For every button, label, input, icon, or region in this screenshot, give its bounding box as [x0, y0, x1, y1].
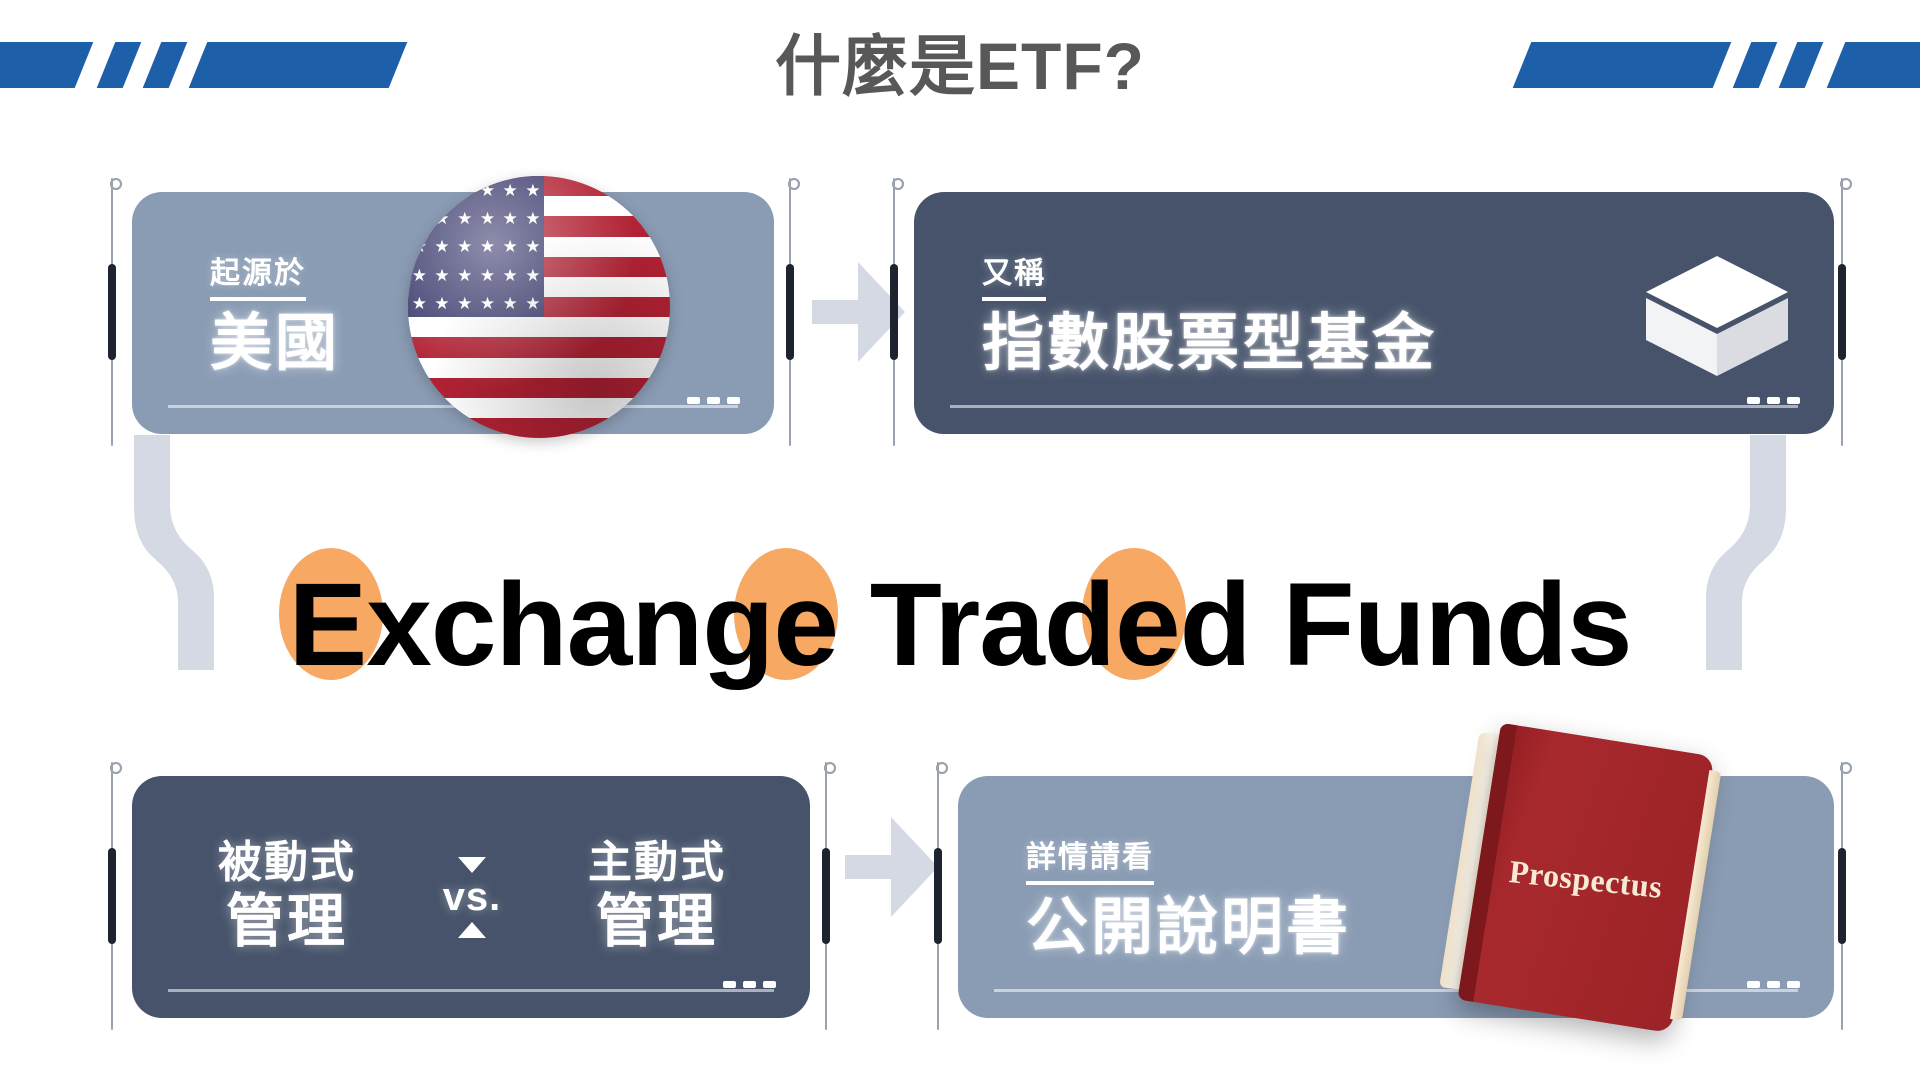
etf-wordmark: Exchange Traded Funds [0, 540, 1920, 710]
card-prospectus-text: 詳情請看 公開說明書 [1026, 832, 1351, 962]
etf-space-1 [838, 559, 870, 691]
active-label-bottom: 管理 [542, 889, 772, 956]
etf-cap-e: E [289, 559, 367, 691]
card-prospectus-kicker: 詳情請看 [1026, 832, 1154, 885]
passive-label-bottom: 管理 [172, 889, 402, 956]
etf-rest-e: xchange [366, 559, 838, 691]
active-management-block: 主動式 管理 [542, 838, 772, 955]
vs-indicator: vs. [422, 857, 522, 938]
triangle-up-icon [458, 922, 486, 938]
bracket-left-card1 [104, 178, 120, 446]
card-management-comparison: 被動式 管理 vs. 主動式 管理 [172, 814, 772, 980]
bracket-left-card4 [930, 762, 946, 1030]
bracket-right-card1 [782, 178, 798, 446]
card-origin-dashes [687, 397, 740, 404]
card-management-dashes [723, 981, 776, 988]
active-label-top: 主動式 [542, 838, 772, 889]
bracket-right-card3 [818, 762, 834, 1030]
card-management-rule [168, 989, 774, 992]
bracket-left-card3 [104, 762, 120, 1030]
prospectus-book-icon: Prospectus [1457, 723, 1714, 1033]
card-prospectus-dashes [1747, 981, 1800, 988]
vs-label: vs. [443, 875, 502, 920]
card-alias[interactable]: 又稱 指數股票型基金 [914, 192, 1834, 434]
etf-wordmark-line: Exchange Traded Funds [289, 566, 1632, 684]
passive-management-block: 被動式 管理 [172, 838, 402, 955]
card-origin-text: 起源於 美國 [210, 248, 340, 378]
bracket-left-card2 [886, 178, 902, 446]
etf-cap-t: T [870, 559, 935, 691]
etf-rest-f: unds [1354, 559, 1632, 691]
us-flag-circle-icon: ★★★★★★ ★★★★★★ ★★★★★★ ★★★★★★ ★★★★★★ [408, 176, 670, 438]
card-origin-headline: 美國 [210, 309, 340, 378]
bracket-right-card2 [1834, 178, 1850, 446]
infographic-canvas: 什麼是ETF? [0, 0, 1920, 1080]
triangle-down-icon [458, 857, 486, 873]
connector-arrow-bottom [845, 817, 938, 917]
card-prospectus-headline: 公開說明書 [1026, 893, 1351, 962]
etf-rest-t: raded [934, 559, 1250, 691]
card-alias-dashes [1747, 397, 1800, 404]
card-origin-kicker: 起源於 [210, 248, 306, 301]
card-management[interactable]: 被動式 管理 vs. 主動式 管理 [132, 776, 810, 1018]
card-alias-text: 又稱 指數股票型基金 [982, 248, 1437, 378]
cube-icon [1642, 252, 1792, 380]
card-alias-headline: 指數股票型基金 [982, 309, 1437, 378]
etf-cap-f: F [1283, 559, 1354, 691]
card-alias-rule [950, 405, 1798, 408]
book-title: Prospectus [1476, 850, 1695, 909]
card-alias-kicker: 又稱 [982, 248, 1046, 301]
passive-label-top: 被動式 [172, 838, 402, 889]
title-row: 什麼是ETF? [0, 0, 1920, 135]
bracket-right-card4 [1834, 762, 1850, 1030]
etf-space-2 [1251, 559, 1283, 691]
flag-gloss [408, 176, 670, 438]
